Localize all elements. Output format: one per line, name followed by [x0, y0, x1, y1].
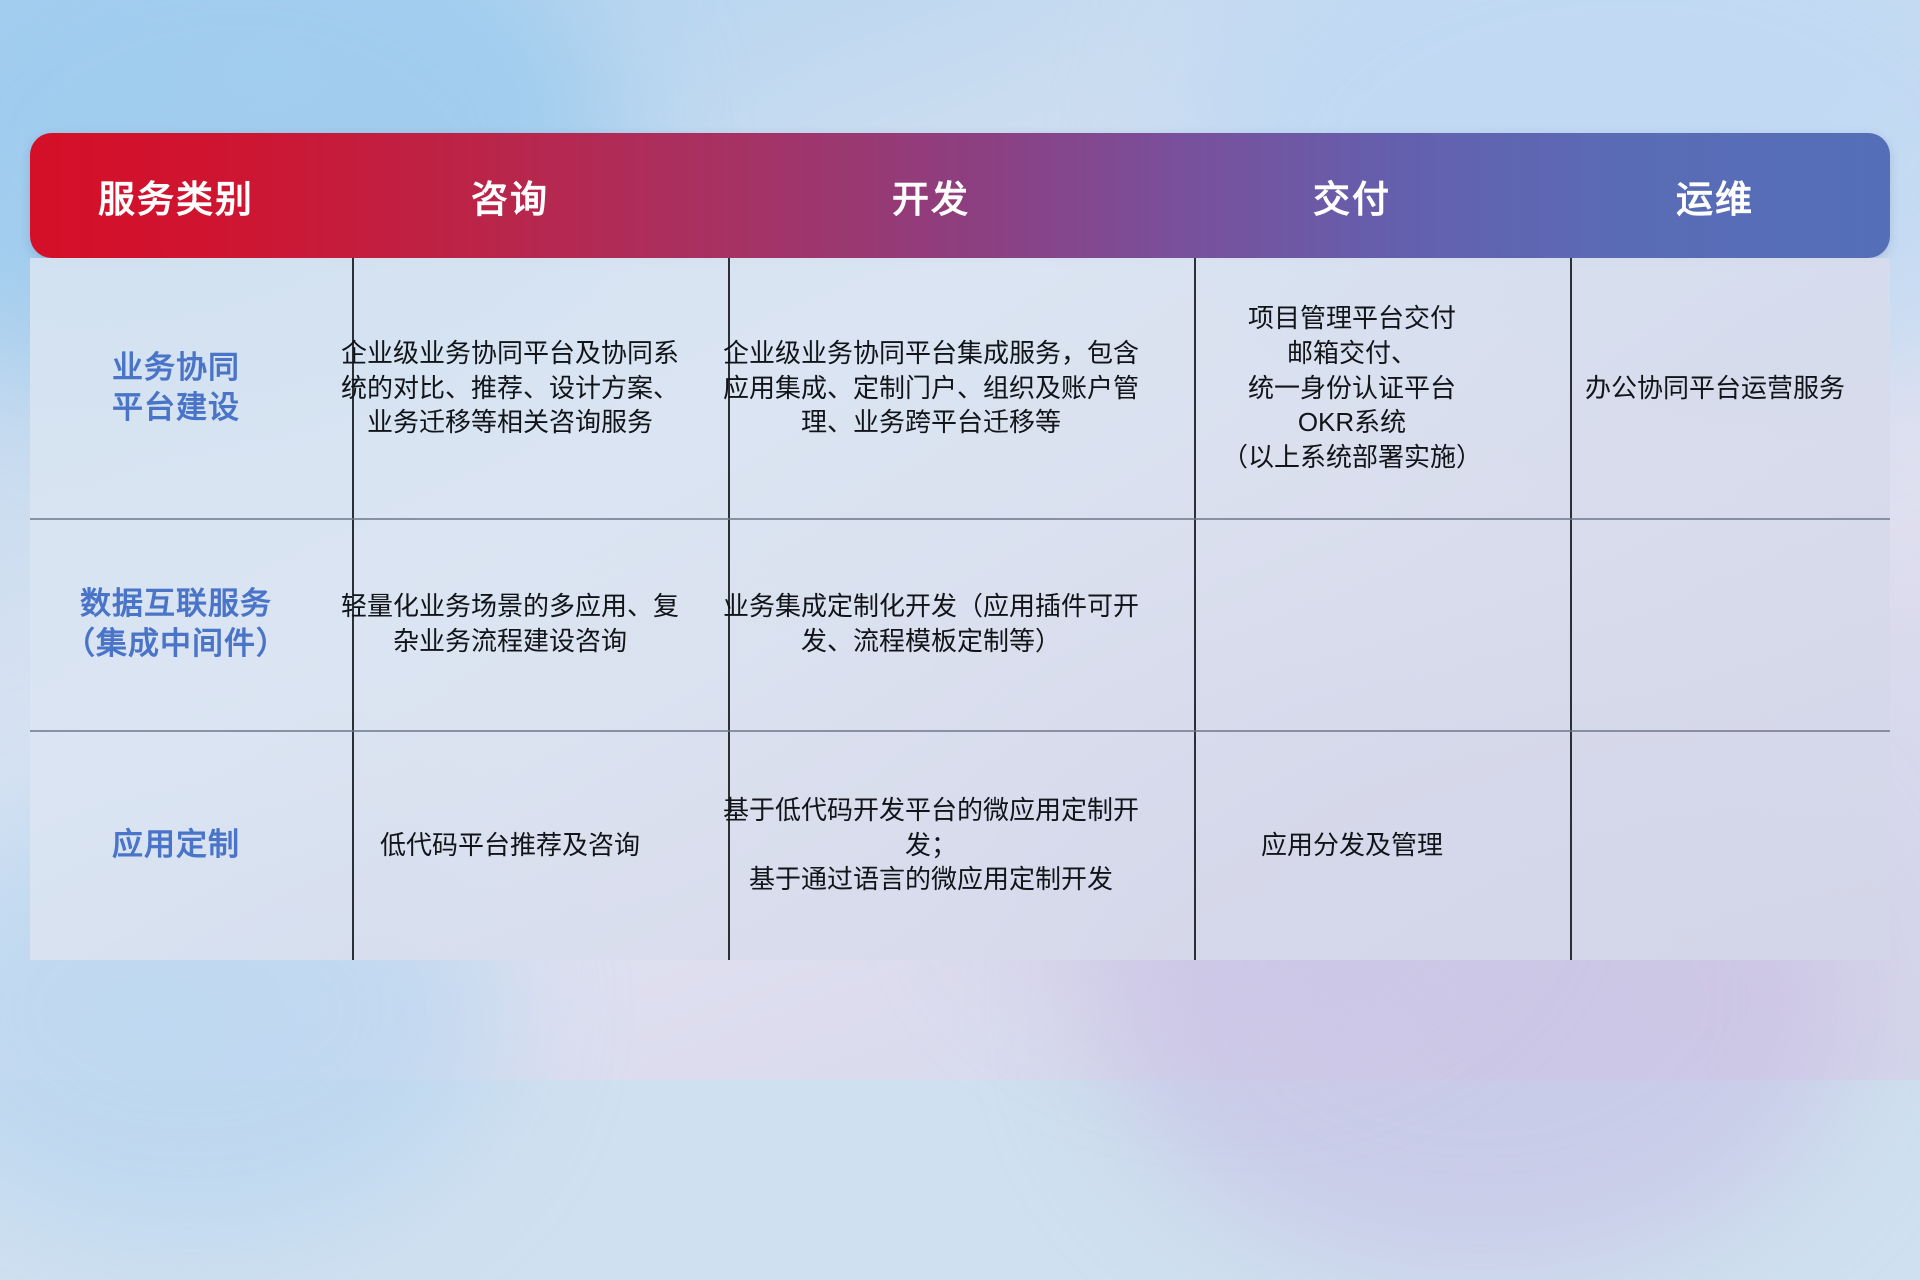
column-header-category[interactable]: 服务类别: [30, 133, 322, 258]
cell-delivery: [1164, 518, 1540, 730]
cell-delivery: 应用分发及管理: [1164, 730, 1540, 960]
column-header-label: 运维: [1676, 179, 1754, 220]
column-header-label: 服务类别: [98, 179, 254, 220]
table-row[interactable]: 数据互联服务（集成中间件） 轻量化业务场景的多应用、复杂业务流程建设咨询 业务集…: [30, 518, 1890, 730]
cell-operations: [1540, 730, 1890, 960]
cell-text: 应用分发及管理: [1164, 828, 1540, 863]
cell-text: 基于低代码开发平台的微应用定制开发；基于通过语言的微应用定制开发: [698, 793, 1164, 897]
cell-development: 企业级业务协同平台集成服务，包含应用集成、定制门户、组织及账户管理、业务跨平台迁…: [698, 258, 1164, 518]
cell-text: 低代码平台推荐及咨询: [322, 828, 698, 863]
cell-operations: [1540, 518, 1890, 730]
table-row[interactable]: 业务协同平台建设 企业级业务协同平台及协同系统的对比、推荐、设计方案、业务迁移等…: [30, 258, 1890, 518]
cell-text: 企业级业务协同平台及协同系统的对比、推荐、设计方案、业务迁移等相关咨询服务: [322, 336, 698, 440]
cell-consulting: 企业级业务协同平台及协同系统的对比、推荐、设计方案、业务迁移等相关咨询服务: [322, 258, 698, 518]
column-header-label: 交付: [1313, 179, 1391, 220]
service-matrix-table-wrap: 服务类别 咨询 开发 交付 运维 业务协同平台建设 企业级业务协同平台及协同系统…: [30, 133, 1890, 960]
cell-text: 企业级业务协同平台集成服务，包含应用集成、定制门户、组织及账户管理、业务跨平台迁…: [698, 336, 1164, 440]
cell-text: 轻量化业务场景的多应用、复杂业务流程建设咨询: [322, 589, 698, 659]
cell-text: 项目管理平台交付邮箱交付、统一身份认证平台OKR系统（以上系统部署实施）: [1164, 301, 1540, 475]
cell-consulting: 轻量化业务场景的多应用、复杂业务流程建设咨询: [322, 518, 698, 730]
column-header-development[interactable]: 开发: [698, 133, 1164, 258]
cell-text: 办公协同平台运营服务: [1540, 371, 1890, 406]
header-row: 服务类别 咨询 开发 交付 运维: [30, 133, 1890, 258]
column-header-consulting[interactable]: 咨询: [322, 133, 698, 258]
table-header: 服务类别 咨询 开发 交付 运维: [30, 133, 1890, 258]
row-label: 数据互联服务（集成中间件）: [30, 584, 322, 665]
cell-development: 业务集成定制化开发（应用插件可开发、流程模板定制等）: [698, 518, 1164, 730]
row-label-cell: 应用定制: [30, 730, 322, 960]
cell-development: 基于低代码开发平台的微应用定制开发；基于通过语言的微应用定制开发: [698, 730, 1164, 960]
cell-operations: 办公协同平台运营服务: [1540, 258, 1890, 518]
column-header-delivery[interactable]: 交付: [1164, 133, 1540, 258]
table-row[interactable]: 应用定制 低代码平台推荐及咨询 基于低代码开发平台的微应用定制开发；基于通过语言…: [30, 730, 1890, 960]
column-header-label: 咨询: [471, 179, 549, 220]
row-label-cell: 数据互联服务（集成中间件）: [30, 518, 322, 730]
row-label-cell: 业务协同平台建设: [30, 258, 322, 518]
column-header-label: 开发: [892, 179, 970, 220]
table-body: 业务协同平台建设 企业级业务协同平台及协同系统的对比、推荐、设计方案、业务迁移等…: [30, 258, 1890, 960]
cell-delivery: 项目管理平台交付邮箱交付、统一身份认证平台OKR系统（以上系统部署实施）: [1164, 258, 1540, 518]
cell-text: 业务集成定制化开发（应用插件可开发、流程模板定制等）: [698, 589, 1164, 659]
column-header-operations[interactable]: 运维: [1540, 133, 1890, 258]
cell-consulting: 低代码平台推荐及咨询: [322, 730, 698, 960]
row-label: 应用定制: [30, 825, 322, 865]
row-label: 业务协同平台建设: [30, 348, 322, 429]
service-matrix-table: 服务类别 咨询 开发 交付 运维 业务协同平台建设 企业级业务协同平台及协同系统…: [30, 133, 1890, 960]
